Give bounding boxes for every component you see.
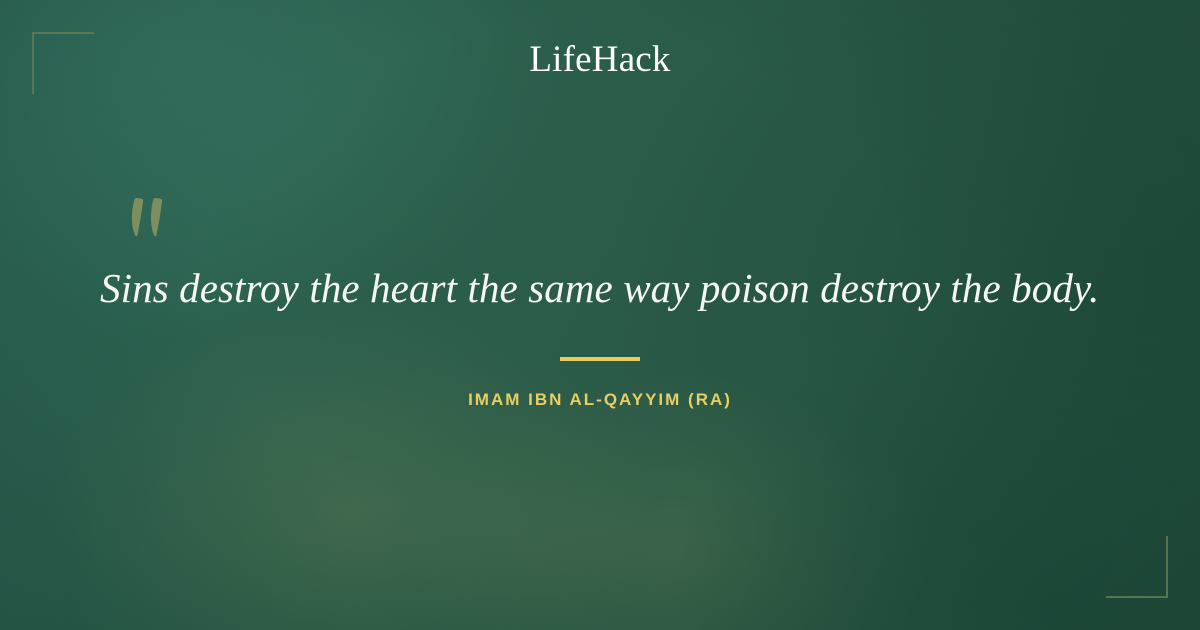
quote-card: LifeHack Sins destroy the heart the same… [0, 0, 1200, 630]
quote-attribution: IMAM IBN AL-QAYYIM (RA) [0, 390, 1200, 410]
background-vignette [0, 0, 1200, 630]
brand-logo: LifeHack [0, 41, 1200, 78]
double-quote-mark-icon [130, 196, 178, 242]
gold-divider [560, 357, 640, 361]
quote-text: Sins destroy the heart the same way pois… [100, 263, 1100, 313]
